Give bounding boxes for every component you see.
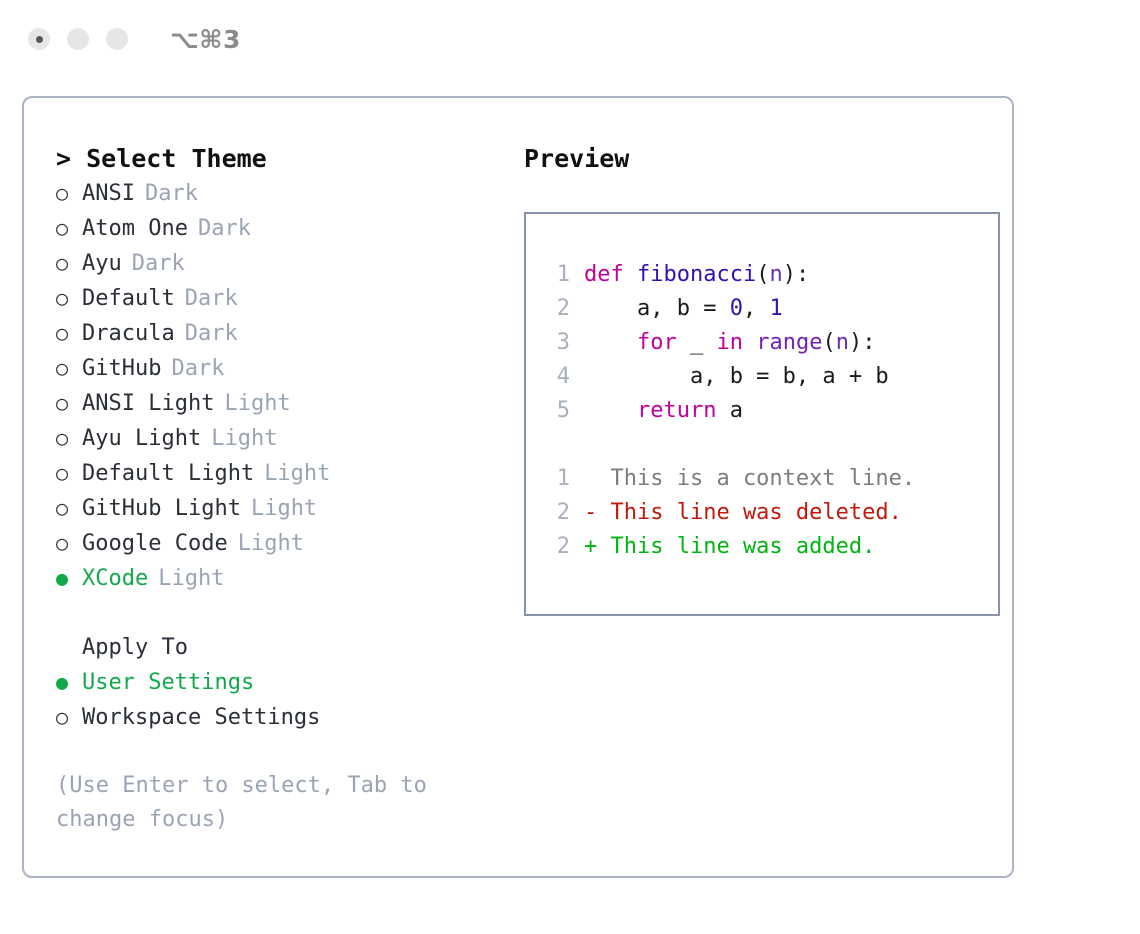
token-var: n bbox=[769, 262, 782, 287]
diff-line-ctx: 1 This is a context line. bbox=[542, 462, 998, 496]
code-text: a, b = b, a + b bbox=[584, 360, 889, 394]
radio-unselected-icon: ○ bbox=[56, 456, 82, 490]
code-line: 1def fibonacci(n): bbox=[542, 258, 998, 292]
theme-selection-column: > Select Theme ○ANSIDark○Atom OneDark○Ay… bbox=[40, 142, 502, 876]
preview-heading: Preview bbox=[524, 142, 1012, 176]
theme-option-atom-one[interactable]: ○Atom OneDark bbox=[56, 211, 502, 246]
diff-text: This is a context line. bbox=[584, 462, 915, 496]
apply-to-list: ●User Settings○Workspace Settings bbox=[56, 665, 502, 735]
theme-option-tag: Light bbox=[264, 457, 330, 491]
theme-option-ansi[interactable]: ○ANSIDark bbox=[56, 176, 502, 211]
theme-option-label: ANSI Light bbox=[82, 387, 214, 421]
theme-option-label: GitHub Light bbox=[82, 492, 241, 526]
apply-to-marker-placeholder: ○ bbox=[56, 630, 82, 664]
token-num: 1 bbox=[769, 296, 782, 321]
spacer bbox=[56, 596, 502, 630]
token-txt: a, b = bbox=[584, 296, 730, 321]
code-line: 2 a, b = 0, 1 bbox=[542, 292, 998, 326]
code-line: 5 return a bbox=[542, 394, 998, 428]
token-txt: ): bbox=[849, 330, 876, 355]
theme-option-tag: Dark bbox=[145, 177, 198, 211]
theme-option-dracula[interactable]: ○DraculaDark bbox=[56, 316, 502, 351]
token-kw: in bbox=[716, 330, 743, 355]
theme-option-ayu[interactable]: ○AyuDark bbox=[56, 246, 502, 281]
theme-option-tag: Light bbox=[238, 527, 304, 561]
main-panel: > Select Theme ○ANSIDark○Atom OneDark○Ay… bbox=[22, 96, 1014, 878]
radio-unselected-icon: ○ bbox=[56, 421, 82, 455]
code-sample: 1def fibonacci(n):2 a, b = 0, 13 for _ i… bbox=[542, 258, 998, 428]
window-dot-active[interactable] bbox=[28, 28, 50, 50]
theme-option-label: Ayu bbox=[82, 247, 122, 281]
line-number: 3 bbox=[542, 326, 570, 360]
token-var: n bbox=[836, 330, 849, 355]
diff-line-add: 2+ This line was added. bbox=[542, 530, 998, 564]
token-txt bbox=[584, 398, 637, 423]
window-dot-3[interactable] bbox=[106, 28, 128, 50]
theme-option-xcode[interactable]: ●XCodeLight bbox=[56, 561, 502, 596]
theme-option-ansi-light[interactable]: ○ANSI LightLight bbox=[56, 386, 502, 421]
theme-option-github[interactable]: ○GitHubDark bbox=[56, 351, 502, 386]
code-blank-line bbox=[542, 428, 998, 462]
theme-option-tag: Light bbox=[211, 422, 277, 456]
theme-option-tag: Light bbox=[251, 492, 317, 526]
line-number: 1 bbox=[542, 462, 570, 496]
radio-unselected-icon: ○ bbox=[56, 281, 82, 315]
radio-unselected-icon: ○ bbox=[56, 526, 82, 560]
theme-option-tag: Dark bbox=[185, 317, 238, 351]
theme-option-label: Google Code bbox=[82, 527, 228, 561]
theme-option-label: ANSI bbox=[82, 177, 135, 211]
window-dot-2[interactable] bbox=[67, 28, 89, 50]
radio-selected-icon: ● bbox=[56, 561, 82, 595]
theme-option-label: Default Light bbox=[82, 457, 254, 491]
line-number: 1 bbox=[542, 258, 570, 292]
radio-unselected-icon: ○ bbox=[56, 316, 82, 350]
token-kw: def bbox=[584, 262, 637, 287]
theme-option-label: XCode bbox=[82, 562, 148, 596]
token-txt: , bbox=[743, 296, 770, 321]
theme-list: ○ANSIDark○Atom OneDark○AyuDark○DefaultDa… bbox=[56, 176, 502, 596]
token-txt: _ bbox=[677, 330, 717, 355]
theme-option-ayu-light[interactable]: ○Ayu LightLight bbox=[56, 421, 502, 456]
window-controls bbox=[28, 28, 128, 50]
line-number: 2 bbox=[542, 292, 570, 326]
apply-to-option-label: User Settings bbox=[82, 666, 254, 700]
line-number: 5 bbox=[542, 394, 570, 428]
theme-option-label: Default bbox=[82, 282, 175, 316]
titlebar: ⌥⌘3 bbox=[0, 0, 1140, 78]
token-num: 0 bbox=[730, 296, 743, 321]
token-kw: return bbox=[637, 398, 716, 423]
theme-option-tag: Dark bbox=[171, 352, 224, 386]
token-txt: ): bbox=[783, 262, 810, 287]
apply-to-heading-row: ○ Apply To bbox=[56, 630, 502, 665]
radio-selected-icon: ● bbox=[56, 665, 82, 699]
theme-option-default-light[interactable]: ○Default LightLight bbox=[56, 456, 502, 491]
theme-option-github-light[interactable]: ○GitHub LightLight bbox=[56, 491, 502, 526]
token-kw: for bbox=[637, 330, 677, 355]
code-text: a, b = 0, 1 bbox=[584, 292, 783, 326]
theme-option-label: Dracula bbox=[82, 317, 175, 351]
theme-option-label: Atom One bbox=[82, 212, 188, 246]
token-txt bbox=[743, 330, 756, 355]
code-text: return a bbox=[584, 394, 743, 428]
theme-option-tag: Dark bbox=[132, 247, 185, 281]
diff-sample: 1 This is a context line.2- This line wa… bbox=[542, 462, 998, 564]
code-text: def fibonacci(n): bbox=[584, 258, 809, 292]
select-theme-heading: > Select Theme bbox=[56, 142, 502, 176]
token-txt: ( bbox=[822, 330, 835, 355]
token-txt: ( bbox=[756, 262, 769, 287]
radio-unselected-icon: ○ bbox=[56, 700, 82, 734]
keyboard-hint-text: (Use Enter to select, Tab to change focu… bbox=[56, 769, 466, 837]
radio-unselected-icon: ○ bbox=[56, 176, 82, 210]
theme-option-tag: Dark bbox=[198, 212, 251, 246]
keyboard-shortcut-label: ⌥⌘3 bbox=[170, 25, 241, 54]
radio-unselected-icon: ○ bbox=[56, 351, 82, 385]
code-line: 3 for _ in range(n): bbox=[542, 326, 998, 360]
line-number: 4 bbox=[542, 360, 570, 394]
apply-to-option-workspace-settings[interactable]: ○Workspace Settings bbox=[56, 700, 502, 735]
code-line: 4 a, b = b, a + b bbox=[542, 360, 998, 394]
apply-to-option-user-settings[interactable]: ●User Settings bbox=[56, 665, 502, 700]
token-txt: a bbox=[716, 398, 743, 423]
line-number: 2 bbox=[542, 496, 570, 530]
theme-option-tag: Light bbox=[158, 562, 224, 596]
token-fn: fibonacci bbox=[637, 262, 756, 287]
theme-option-label: Ayu Light bbox=[82, 422, 201, 456]
line-number: 2 bbox=[542, 530, 570, 564]
apply-to-heading: Apply To bbox=[82, 631, 188, 665]
token-bi: range bbox=[756, 330, 822, 355]
theme-option-tag: Light bbox=[224, 387, 290, 421]
theme-option-label: GitHub bbox=[82, 352, 161, 386]
token-txt: a, b = b, a + b bbox=[584, 364, 889, 389]
apply-to-option-label: Workspace Settings bbox=[82, 701, 320, 735]
diff-text: + This line was added. bbox=[584, 530, 875, 564]
preview-box: 1def fibonacci(n):2 a, b = 0, 13 for _ i… bbox=[524, 212, 1000, 616]
radio-unselected-icon: ○ bbox=[56, 211, 82, 245]
theme-option-tag: Dark bbox=[185, 282, 238, 316]
diff-line-del: 2- This line was deleted. bbox=[542, 496, 998, 530]
token-txt bbox=[584, 330, 637, 355]
preview-column: Preview 1def fibonacci(n):2 a, b = 0, 13… bbox=[502, 142, 1012, 876]
theme-option-google-code[interactable]: ○Google CodeLight bbox=[56, 526, 502, 561]
app-window: ⌥⌘3 > Select Theme ○ANSIDark○Atom OneDar… bbox=[0, 0, 1140, 934]
theme-option-default[interactable]: ○DefaultDark bbox=[56, 281, 502, 316]
radio-unselected-icon: ○ bbox=[56, 491, 82, 525]
radio-unselected-icon: ○ bbox=[56, 386, 82, 420]
radio-unselected-icon: ○ bbox=[56, 246, 82, 280]
diff-text: - This line was deleted. bbox=[584, 496, 902, 530]
code-text: for _ in range(n): bbox=[584, 326, 875, 360]
